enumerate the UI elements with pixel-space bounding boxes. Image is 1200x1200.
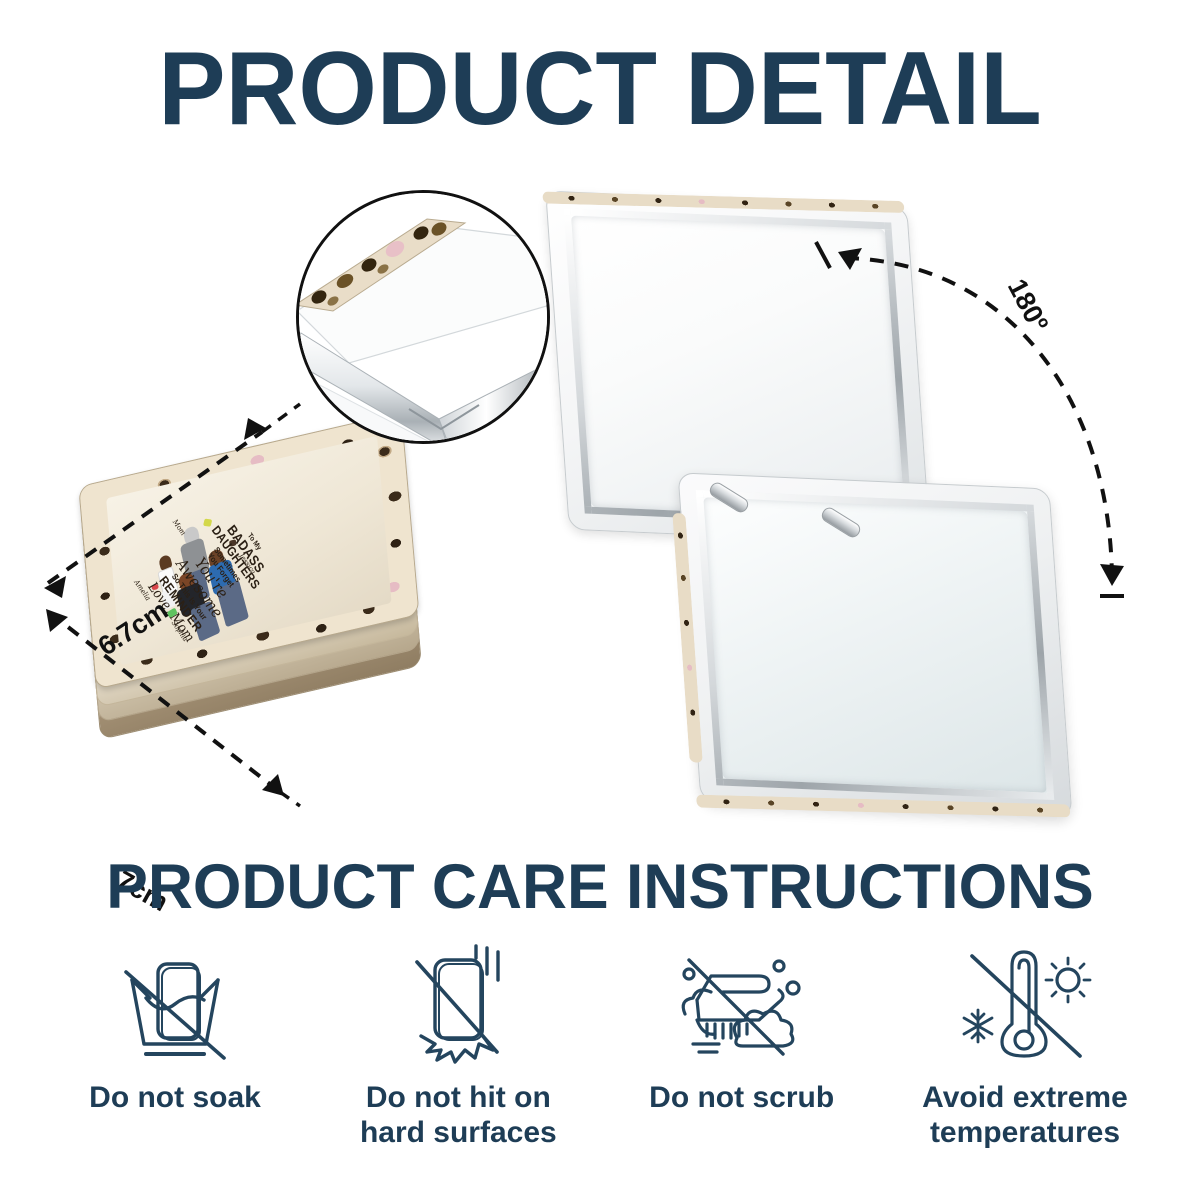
care-item-no-impact: Do not hit onhard surfaces [323, 940, 593, 1170]
product-photo-stage: Amelia Mom Sophia Jessica To My BADASS D… [0, 150, 1200, 840]
care-item-no-scrub: Do not scrub [607, 940, 877, 1170]
no-soak-icon [100, 940, 250, 1068]
no-scrub-icon [667, 940, 817, 1068]
care-instruction-row: Do not soak Do not hit onhard surfaces [40, 940, 1160, 1170]
page-title-care-instructions: PRODUCT CARE INSTRUCTIONS [6, 852, 1194, 922]
care-label-no-scrub: Do not scrub [649, 1080, 834, 1115]
care-item-no-soak: Do not soak [40, 940, 310, 1170]
care-label-no-extreme-temp: Avoid extremetemperatures [922, 1080, 1128, 1151]
care-item-no-extreme-temp: Avoid extremetemperatures [890, 940, 1160, 1170]
leopard-edge-left [672, 513, 703, 763]
detail-magnifier-inset [296, 190, 550, 444]
care-label-no-impact: Do not hit onhard surfaces [360, 1080, 557, 1151]
page-title-product-detail: PRODUCT DETAIL [18, 34, 1182, 144]
no-extreme-temp-icon [950, 940, 1100, 1068]
inset-corner-artwork [296, 190, 550, 444]
closed-compact-mirror: Amelia Mom Sophia Jessica To My BADASS D… [78, 412, 422, 738]
opened-compact-mirror [520, 180, 1140, 800]
no-impact-icon [383, 940, 533, 1068]
mirror-bezel-bottom [696, 490, 1054, 800]
mirror-half-bottom [677, 472, 1072, 817]
care-label-no-soak: Do not soak [89, 1080, 261, 1115]
